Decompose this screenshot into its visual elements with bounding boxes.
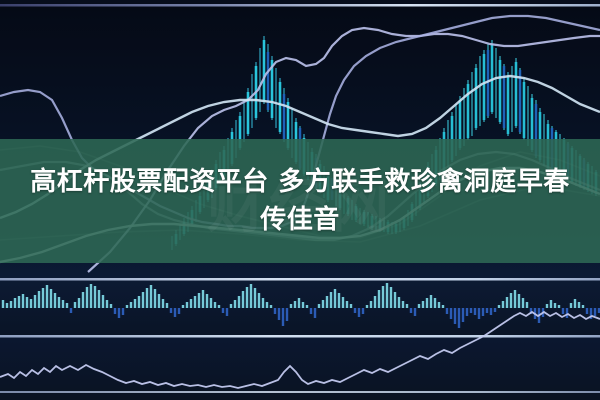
headline-band: 财经网 高杠杆股票配资平台 多方联手救珍禽洞庭早春传佳音 — [0, 139, 600, 263]
rule-bottom — [0, 391, 600, 393]
rule-top — [0, 4, 600, 7]
article-thumbnail: 财经网 高杠杆股票配资平台 多方联手救珍禽洞庭早春传佳音 — [0, 0, 600, 400]
oscillator-panel-bg — [0, 337, 600, 400]
page-title: 高杠杆股票配资平台 多方联手救珍禽洞庭早春传佳音 — [22, 163, 578, 239]
rule-macd-top — [0, 278, 600, 281]
rule-osc-top — [0, 335, 600, 338]
